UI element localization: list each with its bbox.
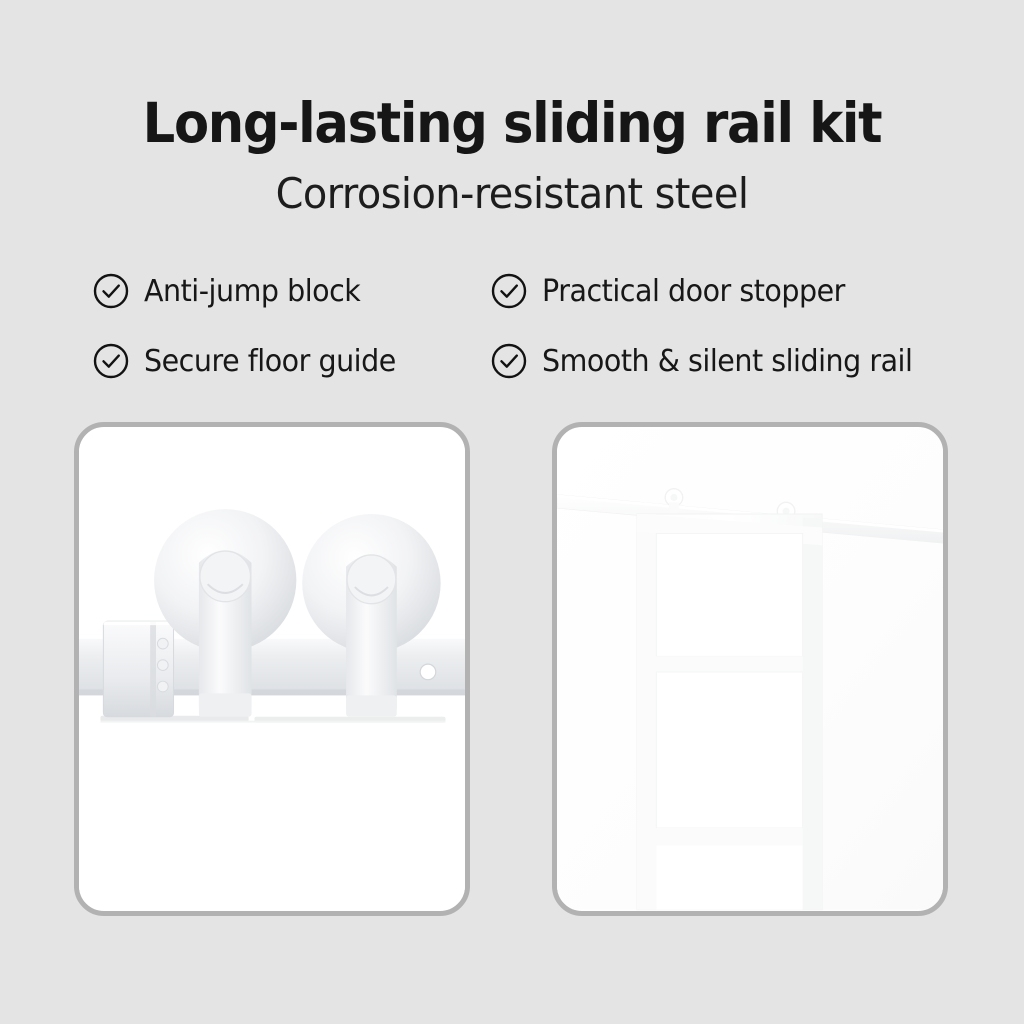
door-middle-rail <box>656 656 802 672</box>
installed-door-illustration <box>557 427 943 911</box>
check-circle-icon <box>490 342 528 380</box>
feature-item-practical-door-stopper: Practical door stopper <box>490 272 952 310</box>
check-circle-icon <box>490 272 528 310</box>
feature-item-anti-jump-block: Anti-jump block <box>92 272 490 310</box>
check-circle-icon <box>92 272 130 310</box>
feature-label: Anti-jump block <box>144 274 360 309</box>
door-bottom-rail <box>656 828 802 846</box>
page-title: Long-lasting sliding rail kit <box>36 0 988 151</box>
feature-label: Smooth & silent sliding rail <box>542 344 912 379</box>
check-circle-icon <box>92 342 130 380</box>
door-panel-upper <box>656 534 802 657</box>
barn-door <box>637 514 822 910</box>
rail-hardware-illustration <box>79 427 465 911</box>
feature-label: Secure floor guide <box>144 344 396 379</box>
installed-barn-door-photo <box>552 422 948 916</box>
page-subtitle: Corrosion-resistant steel <box>26 151 999 215</box>
header: Long-lasting sliding rail kit Corrosion-… <box>0 0 1024 215</box>
feature-list: Anti-jump block Practical door stopper S… <box>92 256 952 396</box>
door-panel-lower <box>656 672 802 828</box>
hanger-hub <box>200 551 251 602</box>
feature-item-secure-floor-guide: Secure floor guide <box>92 342 490 380</box>
sliding-rail-hardware-photo <box>74 422 470 916</box>
end-stopper <box>103 621 173 717</box>
feature-item-smooth-silent-sliding-rail: Smooth & silent sliding rail <box>490 342 952 380</box>
rail-mounting-hole <box>420 664 436 680</box>
feature-label: Practical door stopper <box>542 274 845 309</box>
